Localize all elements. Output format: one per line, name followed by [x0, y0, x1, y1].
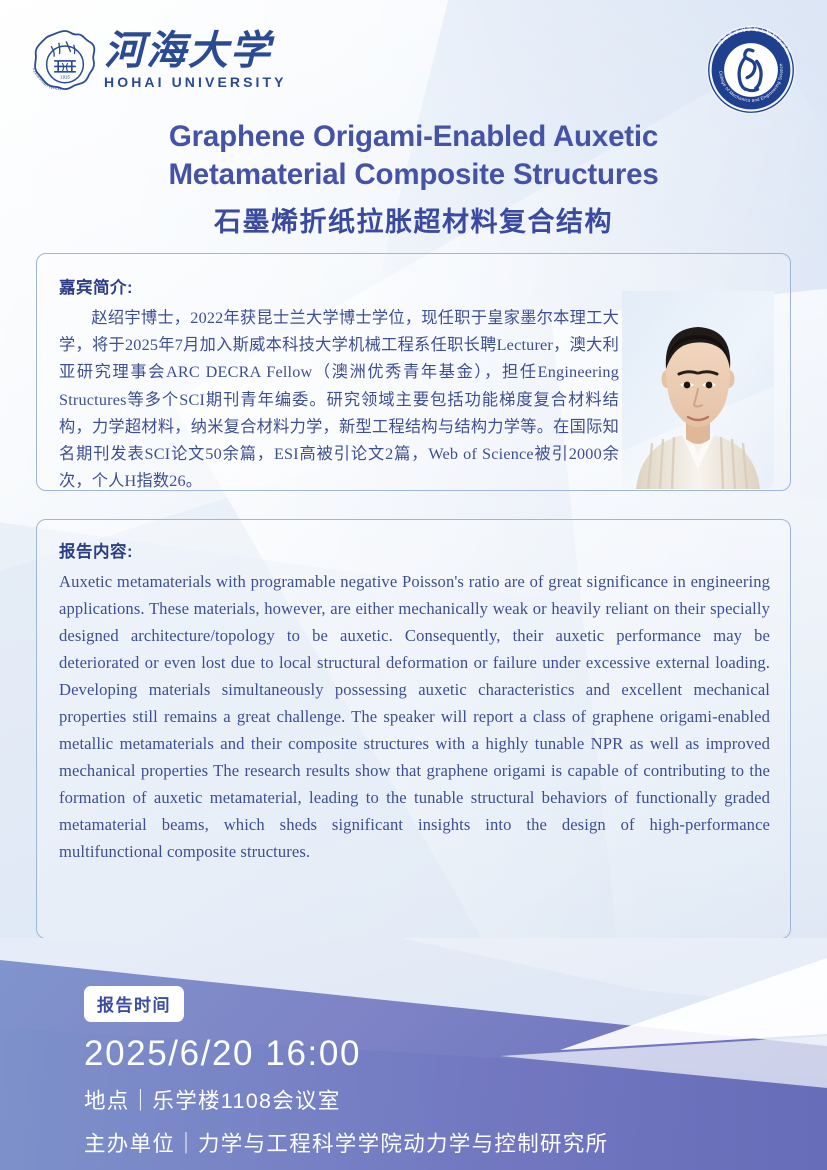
abstract-body: Auxetic metamaterials with programable n… — [59, 568, 770, 866]
title-cn: 石墨烯折纸拉胀超材料复合结构 — [0, 200, 827, 239]
event-venue: 地点｜乐学楼1108会议室 — [84, 1084, 608, 1115]
svg-text:1915: 1915 — [60, 75, 70, 80]
event-datetime: 2025/6/20 16:00 — [84, 1036, 608, 1073]
event-organizer: 主办单位｜力学与工程科学学院动力学与控制研究所 — [84, 1127, 608, 1158]
speaker-bio-text-block: 嘉宾简介: 赵绍宇博士，2022年获昆士兰大学博士学位，现任职于皇家墨尔本理工大… — [59, 274, 619, 496]
poster-root: 1915 HOHAI UNIVERSITY 河海大学 HOHAI UNIVERS… — [0, 0, 827, 1170]
footer-band: 报告时间 2025/6/20 16:00 地点｜乐学楼1108会议室 主办单位｜… — [0, 938, 827, 1170]
poster-header: 1915 HOHAI UNIVERSITY 河海大学 HOHAI UNIVERS… — [0, 0, 827, 118]
abstract-panel: 报告内容: Auxetic metamaterials with program… — [36, 519, 791, 939]
title-en-line-2: Metamaterial Composite Structures — [0, 156, 827, 194]
hohai-university-seal-icon: 1915 HOHAI UNIVERSITY — [31, 28, 99, 98]
event-details: 报告时间 2025/6/20 16:00 地点｜乐学楼1108会议室 主办单位｜… — [84, 986, 608, 1158]
speaker-bio-body: 赵绍宇博士，2022年获昆士兰大学博士学位，现任职于皇家墨尔本理工大学，将于20… — [59, 305, 619, 496]
title-en-line-1: Graphene Origami-Enabled Auxetic — [0, 118, 827, 156]
poster-title: Graphene Origami-Enabled Auxetic Metamat… — [0, 118, 827, 239]
speaker-bio-panel: 嘉宾简介: 赵绍宇博士，2022年获昆士兰大学博士学位，现任职于皇家墨尔本理工大… — [36, 253, 791, 491]
speaker-bio-heading: 嘉宾简介: — [59, 274, 619, 298]
hohai-wordmark: 河海大学 HOHAI UNIVERSITY — [104, 30, 287, 90]
speaker-portrait-photo — [622, 291, 774, 489]
report-time-badge: 报告时间 — [84, 986, 184, 1022]
university-name-cn: 河海大学 — [104, 30, 287, 72]
abstract-heading: 报告内容: — [59, 538, 770, 562]
university-name-en: HOHAI UNIVERSITY — [104, 74, 287, 90]
abstract-text-block: 报告内容: Auxetic metamaterials with program… — [59, 538, 770, 866]
college-of-mechanics-seal-icon: 河海大学力学与工程科学学院 College of Mechanics and E… — [703, 22, 799, 118]
